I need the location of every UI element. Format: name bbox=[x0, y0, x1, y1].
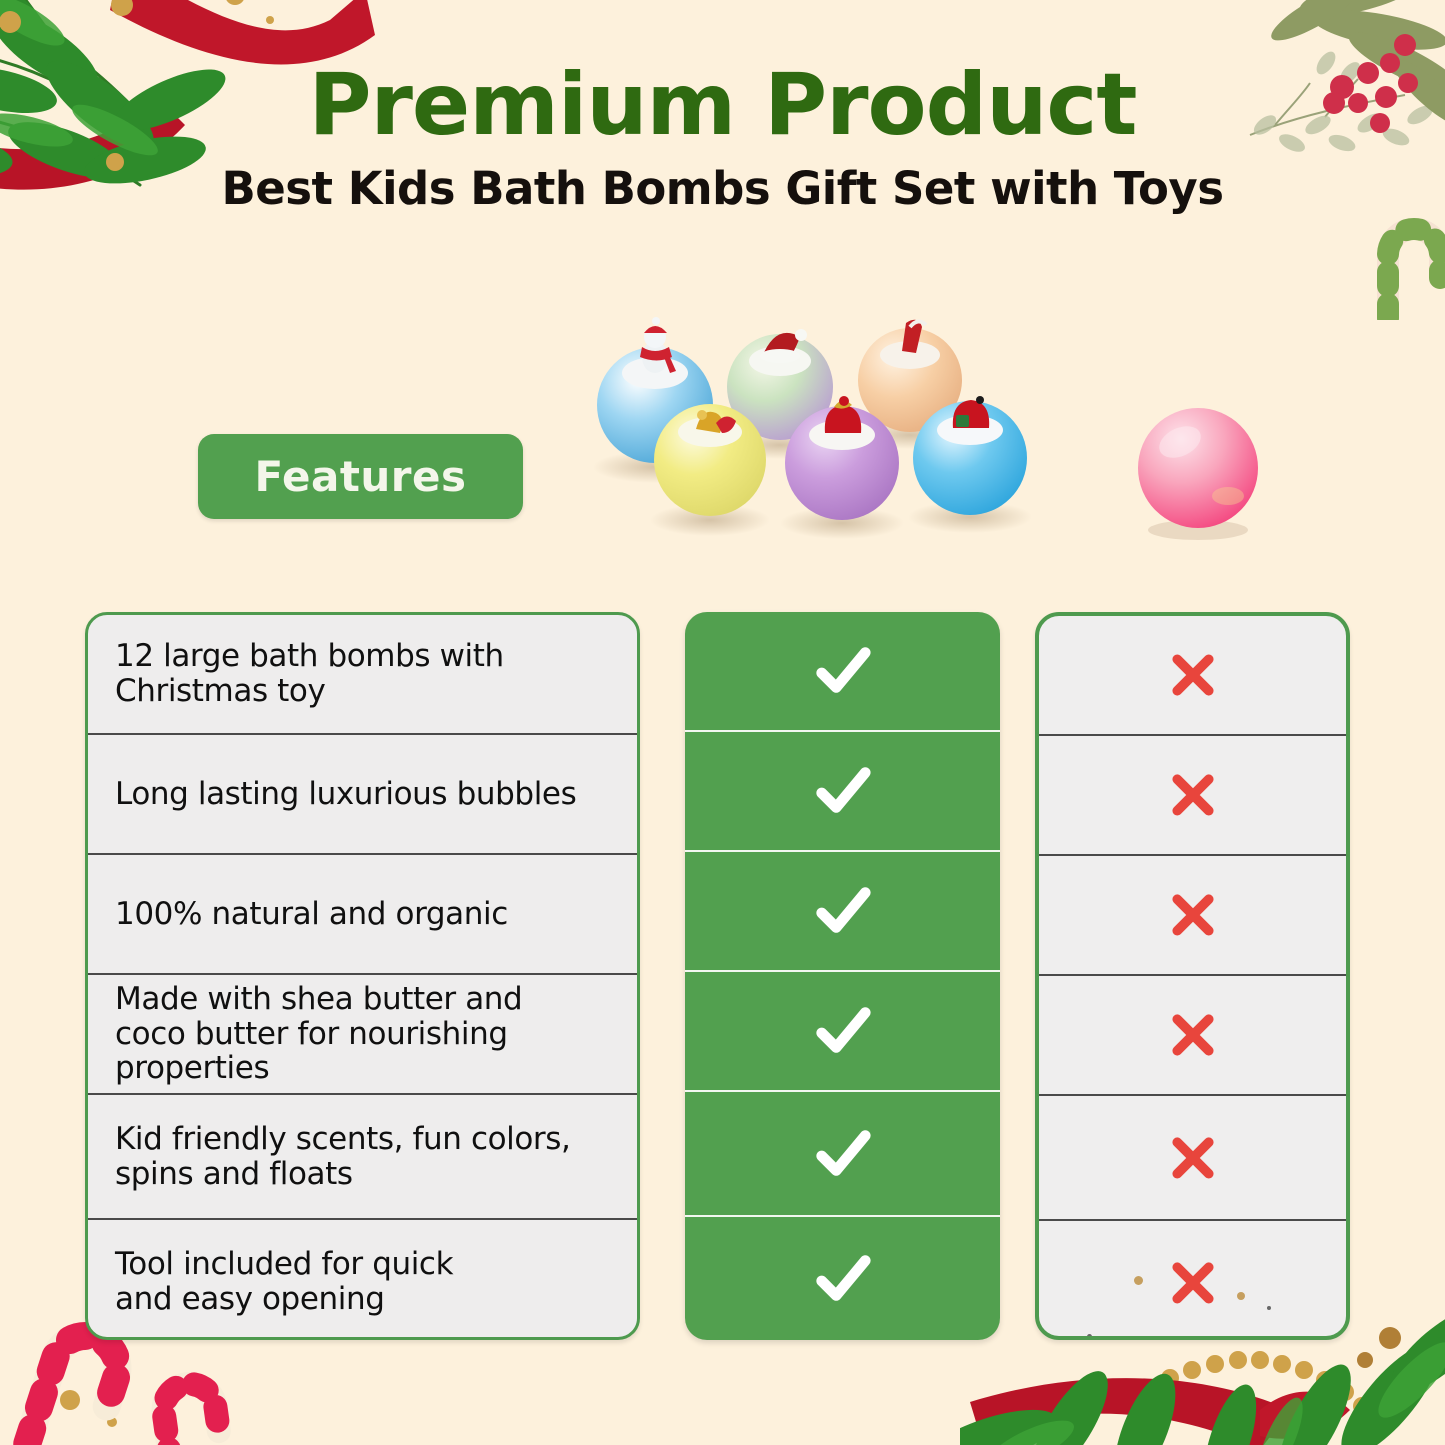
table-row: Tool included for quick and easy opening bbox=[88, 1218, 637, 1340]
feature-list-column: 12 large bath bombs with Christmas toy L… bbox=[85, 612, 640, 1340]
table-row bbox=[1039, 974, 1346, 1094]
features-badge-label: Features bbox=[255, 452, 467, 501]
yellow-bell-bath-bomb bbox=[654, 404, 766, 516]
feature-label: 12 large bath bombs with Christmas toy bbox=[115, 639, 504, 708]
table-row bbox=[1039, 616, 1346, 734]
cross-icon bbox=[1165, 1130, 1221, 1186]
check-icon bbox=[812, 1000, 874, 1062]
comparison-table: 12 large bath bombs with Christmas toy L… bbox=[85, 612, 1370, 1340]
table-row bbox=[1039, 1219, 1346, 1340]
dark-speck bbox=[1267, 1306, 1271, 1310]
table-row bbox=[685, 1090, 1000, 1215]
header: Premium Product Best Kids Bath Bombs Gif… bbox=[0, 62, 1445, 211]
table-row: 12 large bath bombs with Christmas toy bbox=[88, 615, 637, 733]
page-subtitle: Best Kids Bath Bombs Gift Set with Toys bbox=[0, 166, 1445, 211]
gold-speck bbox=[1134, 1276, 1143, 1285]
table-row bbox=[1039, 854, 1346, 974]
table-row bbox=[685, 850, 1000, 970]
our-product-column bbox=[685, 612, 1000, 1340]
gold-bead-garland bbox=[1121, 1351, 1371, 1415]
check-icon bbox=[812, 1123, 874, 1185]
feature-label: Long lasting luxurious bubbles bbox=[115, 777, 576, 812]
check-icon bbox=[812, 760, 874, 822]
feature-label: 100% natural and organic bbox=[115, 897, 508, 932]
cross-icon bbox=[1165, 767, 1221, 823]
table-row: Long lasting luxurious bubbles bbox=[88, 733, 637, 853]
page-title: Premium Product bbox=[0, 62, 1445, 148]
dark-speck bbox=[1087, 1334, 1092, 1339]
check-icon bbox=[812, 1248, 874, 1310]
table-row: Kid friendly scents, fun colors, spins a… bbox=[88, 1093, 637, 1218]
gold-sparkle-decoration bbox=[40, 1370, 160, 1440]
cross-icon bbox=[1165, 1007, 1221, 1063]
gold-speck bbox=[1237, 1292, 1245, 1300]
table-row bbox=[685, 612, 1000, 730]
other-product-column bbox=[1035, 612, 1350, 1340]
cross-icon bbox=[1165, 887, 1221, 943]
pink-bath-bomb bbox=[1128, 400, 1268, 540]
feature-label: Kid friendly scents, fun colors, spins a… bbox=[115, 1122, 571, 1191]
check-icon bbox=[812, 640, 874, 702]
cross-icon bbox=[1165, 647, 1221, 703]
feature-label: Made with shea butter and coco butter fo… bbox=[115, 982, 522, 1086]
feature-label: Tool included for quick and easy opening bbox=[115, 1247, 453, 1316]
table-row bbox=[1039, 1094, 1346, 1219]
table-row bbox=[685, 1215, 1000, 1340]
table-row: Made with shea butter and coco butter fo… bbox=[88, 973, 637, 1093]
table-row bbox=[1039, 734, 1346, 854]
table-row: 100% natural and organic bbox=[88, 853, 637, 973]
infographic-canvas: Premium Product Best Kids Bath Bombs Gif… bbox=[0, 0, 1445, 1445]
table-row bbox=[685, 970, 1000, 1090]
features-badge: Features bbox=[198, 434, 523, 519]
green-candy-cane-decoration bbox=[1370, 200, 1445, 320]
product-image-bath-bombs bbox=[580, 295, 1070, 555]
table-row bbox=[685, 730, 1000, 850]
cross-icon bbox=[1165, 1255, 1221, 1311]
check-icon bbox=[812, 880, 874, 942]
